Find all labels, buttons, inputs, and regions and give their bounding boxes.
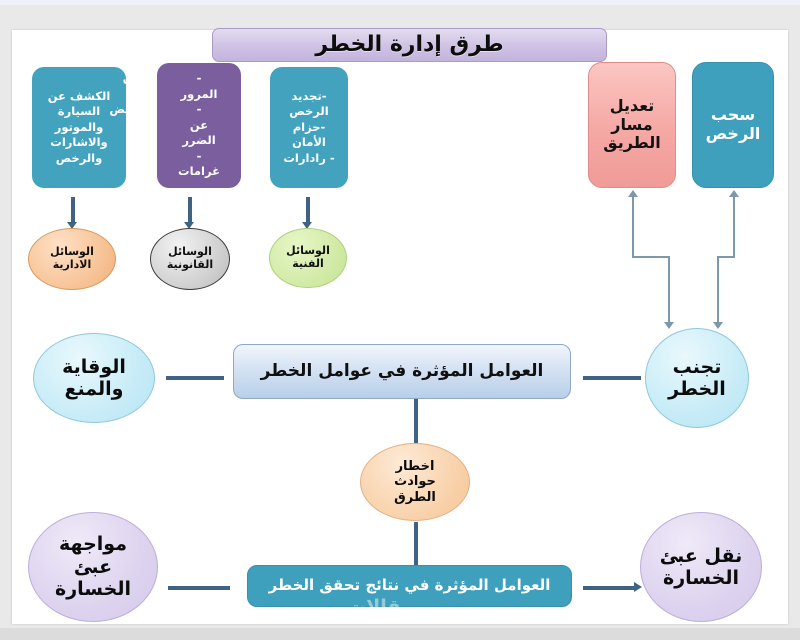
outcome-avoid-risk: تجنب الخطر [645,328,749,428]
outcome-prevention: الوقاية والمنع [33,333,155,423]
center-node-road-accident-risks: اخطار حوادث الطرق [360,443,470,521]
bullet-dash: - [162,102,236,118]
line: سحب [693,106,773,125]
line: فرض [126,149,156,165]
banner-risk-factors-text: العوامل المؤثرة في عوامل الخطر [234,361,570,381]
elbow-left-vertical-lower [668,256,670,324]
banner-risk-result-factors: العوامل المؤثرة في نتائج تحقق الخطر [247,565,572,607]
line: والاشارات [37,135,121,151]
line: الخسارة [641,567,761,589]
line: الأمان [275,135,343,151]
bullet-row: - فرض [162,149,236,165]
page-title-text: طرق إدارة الخطر [213,32,606,58]
line: الادارية [29,259,115,272]
bullet-row: - قانون [162,71,236,87]
line: مواجهة [29,533,157,555]
connector-bear-loss-to-banner [168,586,230,590]
bottom-bar [0,628,800,640]
elbow-left-horizontal [632,256,670,258]
line: تجنب [646,356,748,378]
line: مسار [589,116,675,135]
banner-risk-factors: العوامل المؤثرة في عوامل الخطر [233,344,571,399]
elbow-left-arrowhead-down [664,322,674,329]
page-title: طرق إدارة الخطر [212,28,607,62]
method-box-administrative: الكشف عن السيارة والموتور والاشارات والر… [32,67,126,188]
line: الطرق [361,490,469,505]
action-modify-route: تعديل مسار الطريق [588,62,676,188]
top-strip [0,0,800,5]
line: والرخص [37,151,121,167]
connector-prevention-to-banner [166,376,224,380]
outcome-transfer-loss: نقل عبئ الخسارة [640,512,762,622]
line: الخسارة [29,578,157,600]
method-label-technical: الوسائل الفنية [269,228,347,288]
line: غرامات [162,164,236,180]
line: تعديل [589,97,675,116]
line: -حزام [275,120,343,136]
line: الرخص [693,125,773,144]
line: عن [162,118,236,134]
line: الرخص [275,104,343,120]
method-box-technical-text: -تجديد الرخص -حزام الأمان - رادارات [275,89,343,167]
line: المرور [162,87,236,103]
elbow-left-vertical-upper [632,196,634,258]
bullet-row: - التعويض [162,102,236,118]
elbow-right-arrowhead-down [713,322,723,329]
bullet-dash: - [162,149,236,165]
diagram-stage: طرق إدارة الخطر الكشف عن السيارة والموتو… [0,0,800,640]
elbow-left-arrowhead-up [628,190,638,197]
line: الطريق [589,134,675,153]
bullet-dash: - [162,71,236,87]
outcome-bear-loss: مواجهة عبئ الخسارة [28,512,158,622]
connector-banner-to-avoid [583,376,641,380]
line: الفنية [270,258,346,271]
method-box-legal: - قانون المرور - التعويض عن الضرر - فرض … [157,63,241,188]
spine-lower [414,522,418,570]
method-label-administrative: الوسائل الادارية [28,228,116,290]
line: حوادث [361,474,469,489]
line: -تجديد [275,89,343,105]
method-label-legal: الوسائل القانونية [150,228,230,290]
method-box-legal-text: - قانون المرور - التعويض عن الضرر - فرض … [162,71,236,180]
banner-risk-result-factors-text: العوامل المؤثرة في نتائج تحقق الخطر [248,577,571,595]
line: اخطار [361,459,469,474]
elbow-right-horizontal [717,256,735,258]
line: التعويض [109,102,156,118]
elbow-right-vertical-upper [733,196,735,258]
method-box-administrative-text: الكشف عن السيارة والموتور والاشارات والر… [37,89,121,167]
method-box-technical: -تجديد الرخص -حزام الأمان - رادارات [270,67,348,188]
line: والموتور [37,120,121,136]
elbow-right-arrowhead-up [729,190,739,197]
action-withdraw-license: سحب الرخص [692,62,774,188]
line: الخطر [646,378,748,400]
line: والمنع [34,378,154,400]
line: - رادارات [275,151,343,167]
arrow-shaft-legal [188,197,192,223]
line: الوقاية [34,356,154,378]
line: عبئ [29,556,157,578]
connector-banner-to-transfer-loss [583,586,635,590]
line: القانونية [151,259,229,272]
line: قانون [123,71,156,87]
elbow-right-vertical-lower [717,256,719,324]
line: الضرر [162,133,236,149]
arrow-shaft-technical [306,197,310,223]
line: نقل عبئ [641,545,761,567]
arrow-shaft-administrative [71,197,75,223]
